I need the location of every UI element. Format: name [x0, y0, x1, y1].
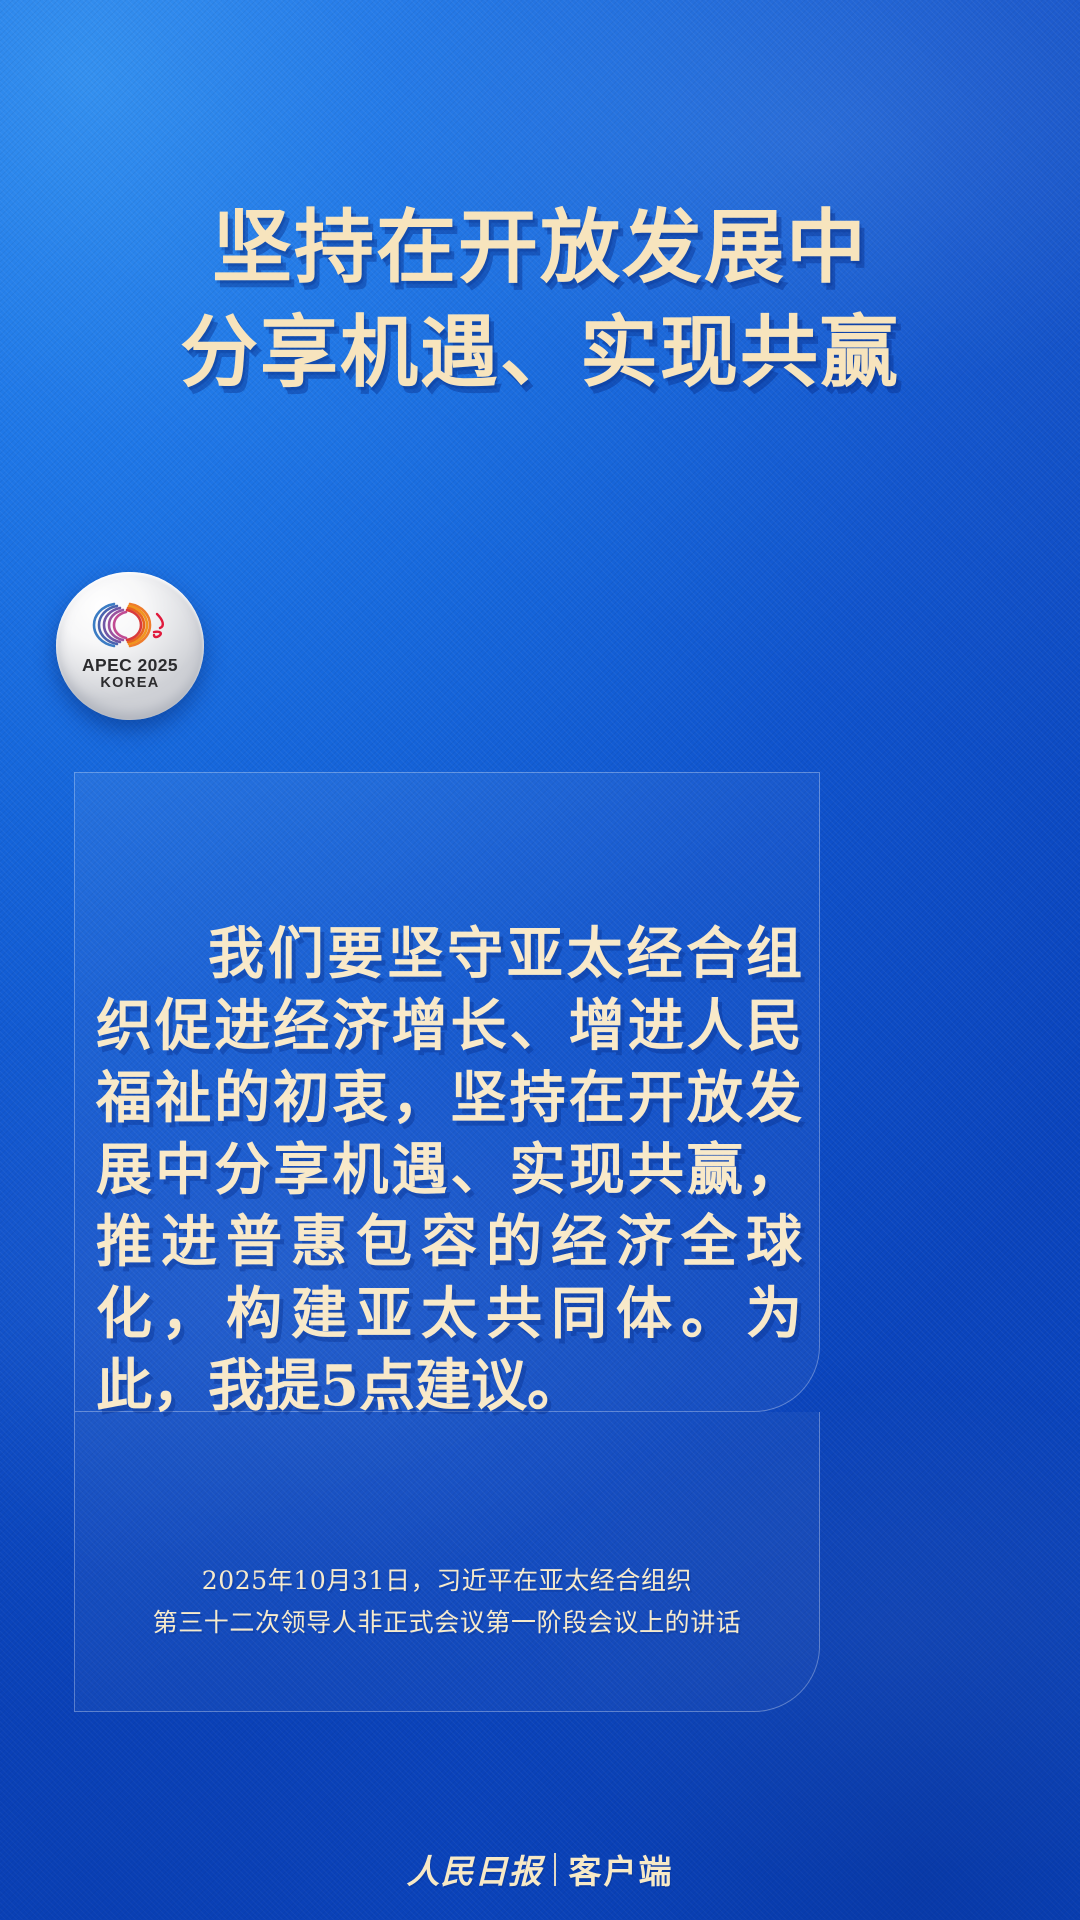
poster-canvas: 坚持在开放发展中 分享机遇、实现共赢 APE — [0, 0, 1080, 1920]
app-name-text: 客户端 — [556, 1845, 674, 1893]
apec-badge: APEC 2025 KOREA — [56, 572, 204, 720]
publisher-logo-text: 人民日报 — [407, 1845, 554, 1893]
quote-text: 我们要坚守亚太经合组织促进经济增长、增进人民福祉的初衷，坚持在开放发展中分享机遇… — [96, 918, 802, 1422]
apec-badge-name: APEC 2025 — [82, 655, 178, 675]
footer-branding: 人民日报 客户端 — [0, 1838, 1080, 1900]
title-line-2: 分享机遇、实现共赢 — [0, 300, 1080, 404]
poster-title: 坚持在开放发展中 分享机遇、实现共赢 — [0, 196, 1080, 404]
apec-wave-faces-emblem — [84, 599, 176, 651]
attribution: 2025年10月31日，习近平在亚太经合组织 第三十二次领导人非正式会议第一阶段… — [74, 1560, 820, 1644]
attribution-line-1: 2025年10月31日，习近平在亚太经合组织 — [74, 1560, 820, 1602]
attribution-line-2: 第三十二次领导人非正式会议第一阶段会议上的讲话 — [74, 1602, 820, 1644]
apec-badge-country: KOREA — [100, 675, 159, 692]
title-line-1: 坚持在开放发展中 — [0, 196, 1080, 300]
footer-divider — [554, 1853, 556, 1886]
